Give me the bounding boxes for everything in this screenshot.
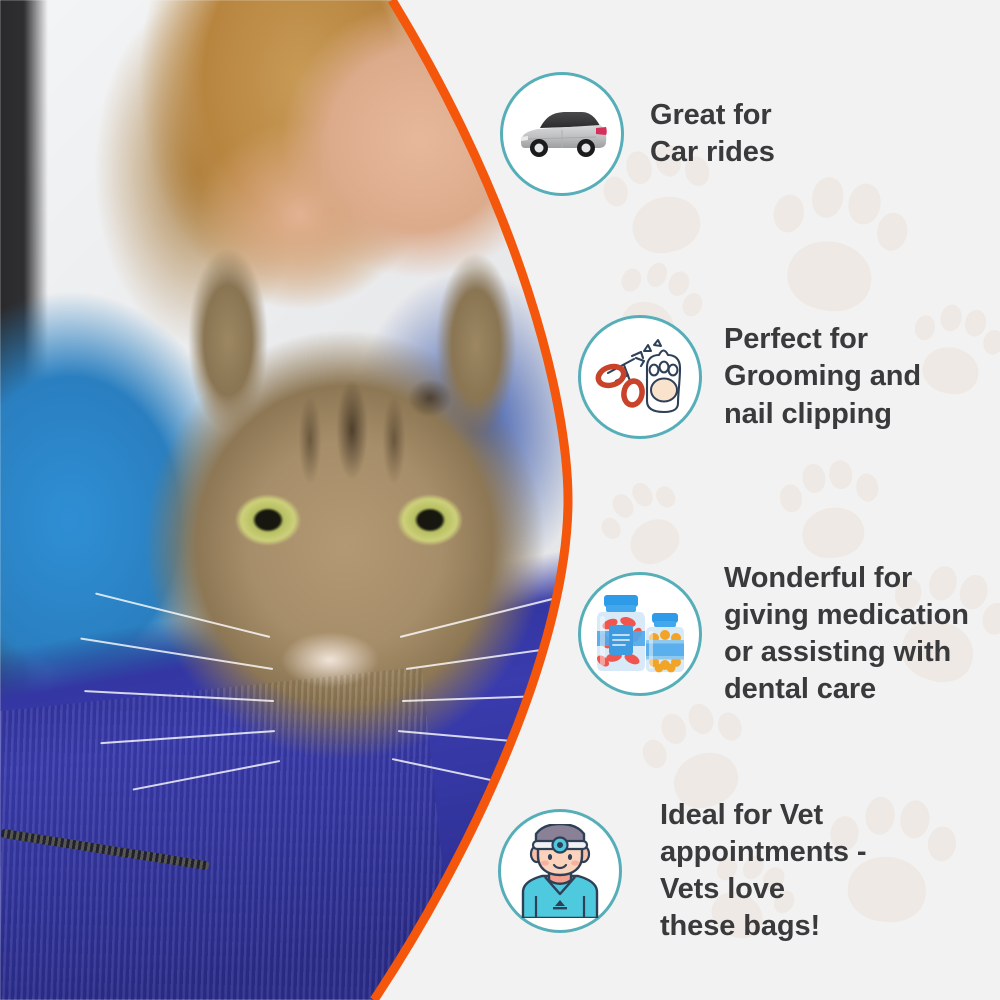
car-icon [516,106,608,162]
feature-icon-circle [498,809,622,933]
bag-knit-texture [0,667,456,1000]
veterinarian-icon [515,824,605,918]
feature-icon-circle [578,572,702,696]
feature-label: Perfect for Grooming and nail clipping [724,321,921,432]
feature-label: Great for Car rides [650,97,775,171]
paw-watermark [768,448,892,572]
feature-label: Ideal for Vet appointments - Vets love t… [660,797,866,945]
pill-bottles-icon [592,591,688,677]
feature-icon-circle [500,72,624,196]
feature-row-vet: Ideal for Vet appointments - Vets love t… [498,797,866,945]
feature-row-medication: Wonderful for giving medication or assis… [578,560,969,708]
feature-label: Wonderful for giving medication or assis… [724,560,969,708]
product-infographic: Great for Car rides [0,0,1000,1000]
feature-icon-circle [578,315,702,439]
product-photo [0,0,580,1000]
nail-clippers-paw-icon [594,337,686,417]
feature-row-grooming: Perfect for Grooming and nail clipping [578,315,921,439]
feature-row-car-rides: Great for Car rides [500,72,775,196]
